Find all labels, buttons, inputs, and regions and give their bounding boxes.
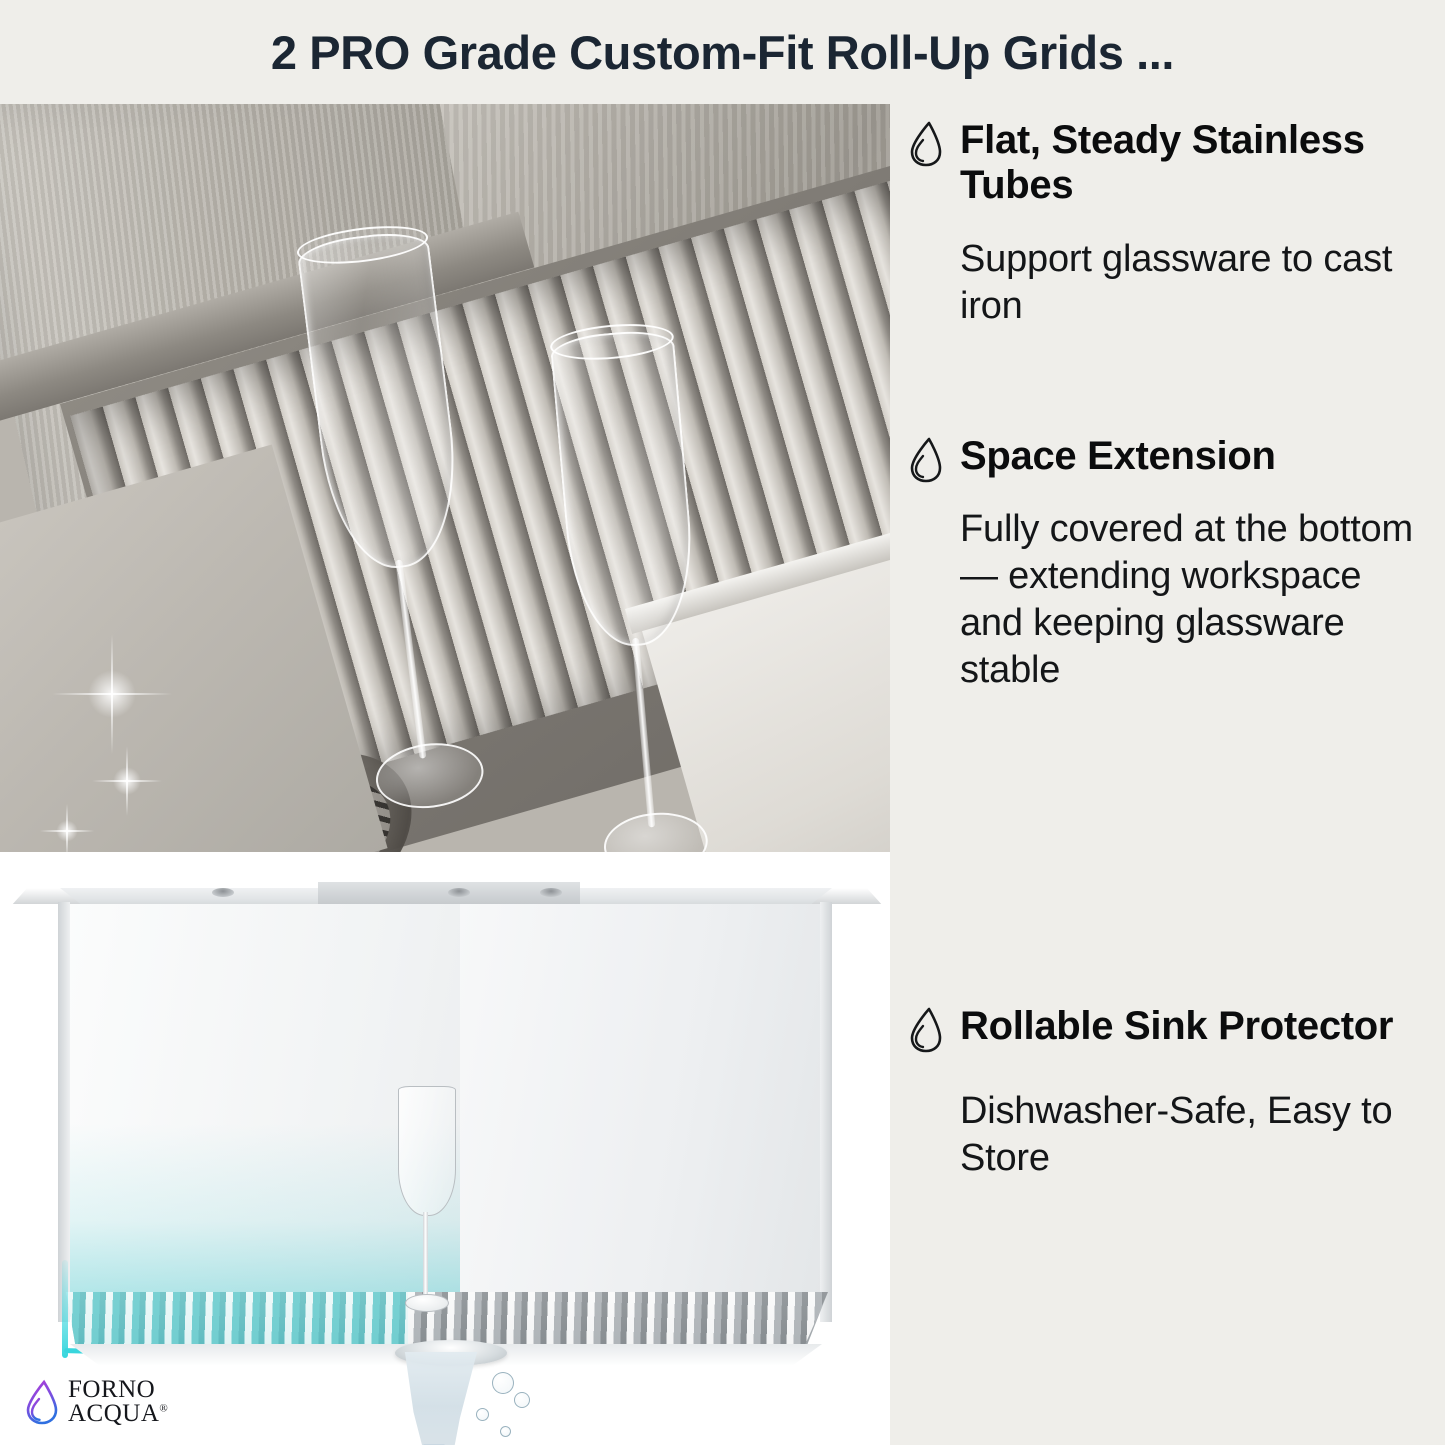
feature-body: Support glassware to cast iron [960, 236, 1426, 330]
water-bubble [500, 1426, 511, 1437]
product-infographic: 2 PRO Grade Custom-Fit Roll-Up Grids ... [0, 0, 1445, 1445]
water-bubble [514, 1392, 530, 1408]
water-drop-icon [906, 436, 946, 484]
feature-heading: Flat, Steady Stainless Tubes [906, 118, 1426, 208]
water-bubble [492, 1372, 514, 1394]
flute-stem [395, 559, 426, 758]
feature-heading: Space Extension [906, 434, 1426, 484]
feature-title: Rollable Sink Protector [960, 1004, 1393, 1049]
flute-foot [372, 737, 487, 814]
feature-title: Flat, Steady Stainless Tubes [960, 118, 1426, 208]
roll-up-grid-highlighted [66, 1292, 408, 1350]
brand-line-1: FORNO [68, 1378, 168, 1402]
flute-foot [405, 1294, 449, 1312]
basin-interior-wall-right [460, 904, 826, 1310]
deck-hole [540, 888, 562, 897]
basin-side-left [58, 902, 70, 1322]
brand-logo: FORNO ACQUA® [24, 1378, 168, 1425]
water-drop-icon [906, 1006, 946, 1054]
feature-item-flat-steady-stainless-tubes: Flat, Steady Stainless Tubes Support gla… [906, 118, 1426, 330]
deck-hole [448, 888, 470, 897]
flute-stem [423, 1212, 428, 1304]
feature-list: Flat, Steady Stainless Tubes Support gla… [906, 104, 1426, 1445]
feature-item-space-extension: Space Extension Fully covered at the bot… [906, 434, 1426, 694]
water-drop-icon [906, 120, 946, 168]
deck-hole [212, 888, 234, 897]
brand-wordmark: FORNO ACQUA® [68, 1378, 168, 1425]
flute-foot [601, 809, 710, 852]
basin-side-right [820, 902, 832, 1322]
title-bar: 2 PRO Grade Custom-Fit Roll-Up Grids ... [0, 0, 1445, 104]
feature-body: Dishwasher-Safe, Easy to Store [960, 1088, 1426, 1182]
water-bubble [476, 1408, 489, 1421]
water-stream [398, 1352, 484, 1445]
flute-stem [632, 638, 656, 828]
registered-mark: ® [159, 1402, 168, 1414]
stainless-sink-photo [0, 104, 890, 852]
brand-line-2: ACQUA® [68, 1402, 168, 1426]
water-drop-gradient-icon [24, 1379, 60, 1425]
teal-edge-highlight [62, 1260, 68, 1358]
page-title: 2 PRO Grade Custom-Fit Roll-Up Grids ... [271, 25, 1174, 80]
champagne-flute-center [398, 1086, 454, 1330]
feature-title: Space Extension [960, 434, 1276, 479]
feature-item-rollable-sink-protector: Rollable Sink Protector Dishwasher-Safe,… [906, 1004, 1426, 1182]
feature-body: Fully covered at the bottom — extending … [960, 506, 1426, 694]
sink-cutaway-render [0, 852, 890, 1445]
feature-heading: Rollable Sink Protector [906, 1004, 1426, 1054]
flute-bowl [398, 1086, 456, 1216]
media-column [0, 104, 890, 1445]
